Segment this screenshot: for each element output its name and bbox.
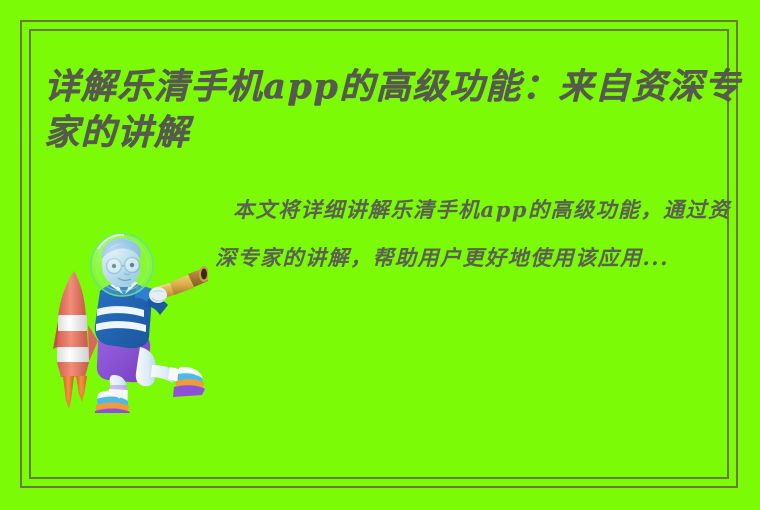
glove: [149, 287, 167, 303]
space-helmet: [91, 234, 153, 296]
rocket-icon: [53, 271, 98, 409]
astronaut-with-telescope-icon: [52, 225, 208, 413]
page-title: 详解乐清手机app的高级功能：来自资深专家的讲解: [44, 64, 744, 156]
article-summary: 本文将详细讲解乐清手机app的高级功能，通过资深专家的讲解，帮助用户更好地使用该…: [215, 186, 735, 282]
astronaut-rocket-illustration: [52, 225, 208, 413]
right-shoe: [173, 367, 205, 397]
article-thumbnail-card: 详解乐清手机app的高级功能：来自资深专家的讲解 本文将详细讲解乐清手机app的…: [0, 0, 760, 510]
